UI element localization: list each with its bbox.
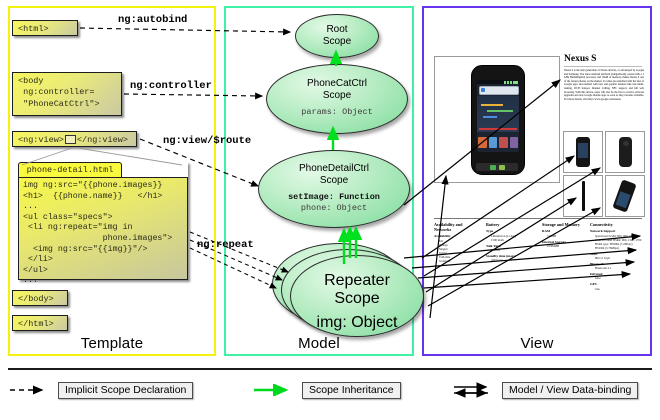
spec-value-infrared: false xyxy=(590,276,642,280)
spec-header-availability: Availability and Networks xyxy=(434,222,480,232)
phone-wallpaper-stripe-1 xyxy=(481,104,503,106)
legend-label-data-binding: Model / View Data-binding xyxy=(502,382,638,399)
spec-value-availability-5: Vodafone xyxy=(434,259,480,263)
spec-value-battery-standby: 428 hours xyxy=(486,258,538,262)
partial-code-body: img ng:src="{{phone.images}} <h1> {{phon… xyxy=(18,177,188,280)
legend-item-implicit-scope: Implicit Scope Declaration xyxy=(8,381,193,399)
spec-value-network-support: Quad-band GSM: 850, 900, 1800, 1900 Tri-… xyxy=(590,234,642,250)
spec-table: Availability and Networks Availability M… xyxy=(434,222,642,314)
spec-value-battery-type-1: 1500 mAh xyxy=(486,238,538,242)
root-scope-title-line2: Scope xyxy=(296,36,378,48)
arrow-label-autobind: ng:autobind xyxy=(118,14,187,26)
view-column-label: View xyxy=(424,335,650,352)
phone-wallpaper-stripe-3 xyxy=(483,116,497,118)
legend-divider xyxy=(8,368,652,370)
repeater-scope-property-img: img: Object xyxy=(291,314,423,332)
phone-nav-buttons xyxy=(476,163,518,171)
phonedetailctrl-scope-title-line1: PhoneDetailCtrl xyxy=(259,163,409,175)
repeater-scope-title-line1: Repeater xyxy=(291,272,423,290)
spec-value-wifi: 802.11 b/g/n xyxy=(590,256,642,260)
phonedetailctrl-scope-title-line2: Scope xyxy=(259,175,409,187)
ngview-tag-box: <ng:view></ng:view> xyxy=(12,131,137,147)
main-phone-image-frame xyxy=(434,56,560,183)
spec-value-bluetooth: Bluetooth 2.1 xyxy=(590,266,642,270)
thumbnail-phone-back[interactable] xyxy=(605,131,645,173)
phone-wallpaper-stripe-4 xyxy=(479,128,517,130)
end-body-tag-box: </body> xyxy=(12,290,68,306)
phone-search-widget xyxy=(479,86,519,95)
template-column-label: Template xyxy=(10,335,214,352)
spec-value-battery-talktime: 6 hours xyxy=(486,248,538,252)
legend-label-scope-inheritance: Scope Inheritance xyxy=(302,382,401,399)
dashed-arrow-icon xyxy=(8,384,52,396)
phonedetailctrl-scope-property-setimage: setImage: Function xyxy=(259,192,409,203)
repeater-scope-title-line2: Scope xyxy=(291,290,423,308)
legend-item-scope-inheritance: Scope Inheritance xyxy=(252,381,401,399)
diagram-canvas: Template Model View <html> <body ng:cont… xyxy=(0,0,660,420)
ngview-placeholder-icon xyxy=(65,135,76,144)
phone-wallpaper xyxy=(477,96,519,132)
phone-screen xyxy=(477,80,519,152)
arrow-label-route: ng:view/$route xyxy=(163,135,251,147)
nexus-s-phone-illustration xyxy=(471,65,525,175)
legend-label-implicit-scope: Implicit Scope Declaration xyxy=(58,382,193,399)
spec-header-battery: Battery xyxy=(486,222,538,227)
phonecatctrl-scope-property-params: params: Object xyxy=(267,107,407,118)
root-scope-title-line1: Root xyxy=(296,24,378,36)
arrow-label-repeat: ng:repeat xyxy=(197,239,254,251)
green-arrow-icon xyxy=(252,384,296,396)
double-arrow-icon xyxy=(452,382,496,398)
product-title-divider xyxy=(564,66,642,67)
arrow-label-controller: ng:controller xyxy=(130,80,212,92)
spec-column-connectivity: Connectivity Network Support Quad-band G… xyxy=(590,222,642,291)
spec-header-connectivity: Connectivity xyxy=(590,222,642,227)
spec-value-ram: 512MB xyxy=(542,234,588,238)
thumbnail-phone-angled[interactable] xyxy=(605,175,645,217)
thumbnail-phone-front[interactable] xyxy=(563,131,603,173)
body-tag-box: <body ng:controller= "PhoneCatCtrl"> xyxy=(12,72,122,116)
view-rendered-page: Nexus S Nexus S is the next generation o… xyxy=(430,14,644,332)
legend-item-data-binding: Model / View Data-binding xyxy=(452,381,638,399)
phone-app-dock xyxy=(478,137,518,148)
phonecatctrl-scope-title-line2: Scope xyxy=(267,90,407,102)
repeater-scope-node: Repeater Scope img: Object xyxy=(290,255,424,337)
spec-column-storage: Storage and Memory RAM 512MB Internal St… xyxy=(542,222,588,248)
phonedetailctrl-scope-node: PhoneDetailCtrl Scope setImage: Function… xyxy=(258,150,410,228)
phone-status-icons xyxy=(504,81,518,84)
spec-value-gps: true xyxy=(590,287,642,291)
partial-filename-tab: phone-detail.html xyxy=(18,162,122,178)
spec-table-divider xyxy=(434,218,642,219)
phone-wallpaper-stripe-2 xyxy=(487,110,513,112)
product-title: Nexus S xyxy=(564,54,596,64)
spec-header-storage: Storage and Memory xyxy=(542,222,588,227)
html-tag-box: <html> xyxy=(12,20,78,36)
search-icon xyxy=(481,88,485,92)
product-description: Nexus S is the next generation of Nexus … xyxy=(564,69,644,125)
spec-value-internal-storage: 16384MB xyxy=(542,244,588,248)
end-html-tag-box: </html> xyxy=(12,315,68,331)
ngview-open-label: <ng:view> xyxy=(18,135,64,145)
thumbnail-phone-side[interactable] xyxy=(563,175,603,217)
root-scope-node: Root Scope xyxy=(295,14,379,58)
model-column-label: Model xyxy=(226,335,412,352)
phonecatctrl-scope-title-line1: PhoneCatCtrl xyxy=(267,78,407,90)
spec-column-availability: Availability and Networks Availability M… xyxy=(434,222,480,263)
phonecatctrl-scope-node: PhoneCatCtrl Scope params: Object xyxy=(266,64,408,134)
spec-column-battery: Battery Type Lithium Ion (Li-Ion) 1500 m… xyxy=(486,222,538,262)
phone-detail-partial-note: phone-detail.html img ng:src="{{phone.im… xyxy=(18,162,188,280)
phonedetailctrl-scope-property-phone: phone: Object xyxy=(259,203,409,214)
ngview-close-label: </ng:view> xyxy=(77,135,128,145)
